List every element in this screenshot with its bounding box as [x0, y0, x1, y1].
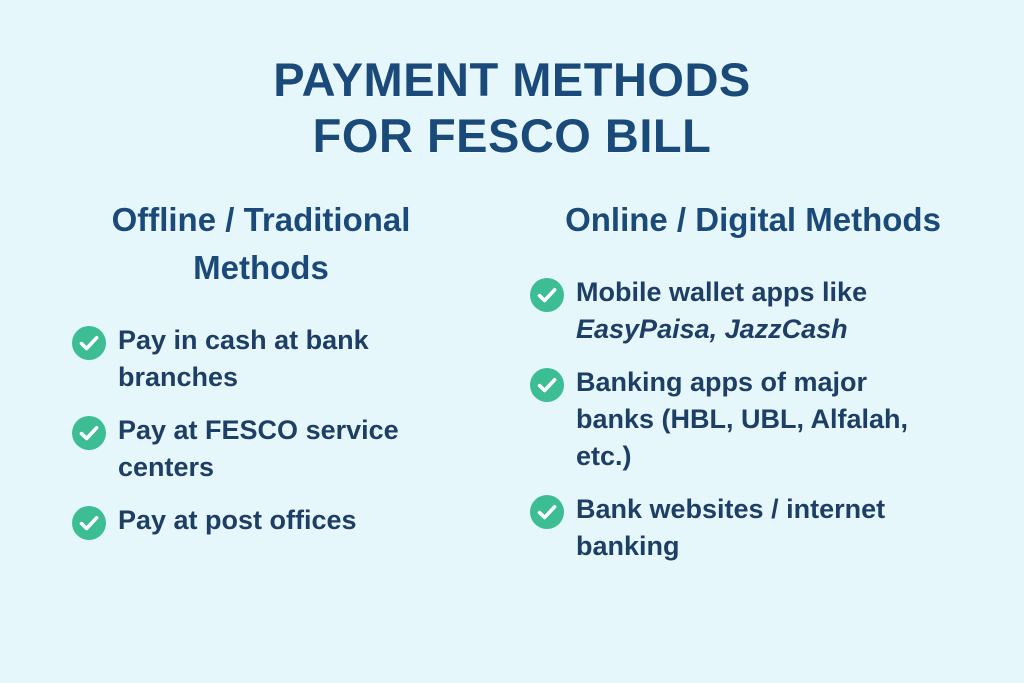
list-item-label-emphasis: EasyPaisa, JazzCash: [576, 314, 848, 344]
infographic-poster: PAYMENT METHODS FOR FESCO BILL Offline /…: [0, 0, 1024, 683]
online-methods-list: Mobile wallet apps like EasyPaisa, JazzC…: [530, 274, 984, 565]
column-offline: Offline / Traditional Methods Pay in cas…: [0, 196, 470, 540]
list-item: Mobile wallet apps like EasyPaisa, JazzC…: [530, 274, 984, 348]
list-item-label: Pay at FESCO service centers: [118, 412, 448, 486]
offline-methods-list: Pay in cash at bank branches Pay at FESC…: [72, 322, 450, 540]
list-item: Banking apps of major banks (HBL, UBL, A…: [530, 364, 984, 475]
list-item-label: Mobile wallet apps like EasyPaisa, JazzC…: [576, 274, 926, 348]
page-title-line-2: FOR FESCO BILL: [0, 108, 1024, 164]
column-online: Online / Digital Methods Mobile wallet a…: [470, 196, 1024, 565]
check-circle-icon: [72, 506, 106, 540]
methods-columns: Offline / Traditional Methods Pay in cas…: [0, 196, 1024, 565]
list-item: Pay in cash at bank branches: [72, 322, 450, 396]
page-title-line-1: PAYMENT METHODS: [0, 52, 1024, 108]
list-item-label: Pay in cash at bank branches: [118, 322, 448, 396]
column-online-heading: Online / Digital Methods: [522, 196, 984, 244]
list-item: Bank websites / internet banking: [530, 491, 984, 565]
list-item: Pay at FESCO service centers: [72, 412, 450, 486]
column-offline-heading: Offline / Traditional Methods: [72, 196, 450, 292]
check-circle-icon: [530, 278, 564, 312]
check-circle-icon: [72, 416, 106, 450]
page-title: PAYMENT METHODS FOR FESCO BILL: [0, 52, 1024, 164]
list-item-label: Bank websites / internet banking: [576, 491, 926, 565]
check-circle-icon: [530, 495, 564, 529]
list-item-label-plain: Mobile wallet apps like: [576, 277, 867, 307]
check-circle-icon: [530, 368, 564, 402]
list-item-label: Banking apps of major banks (HBL, UBL, A…: [576, 364, 926, 475]
list-item: Pay at post offices: [72, 502, 450, 540]
list-item-label: Pay at post offices: [118, 502, 357, 539]
check-circle-icon: [72, 326, 106, 360]
